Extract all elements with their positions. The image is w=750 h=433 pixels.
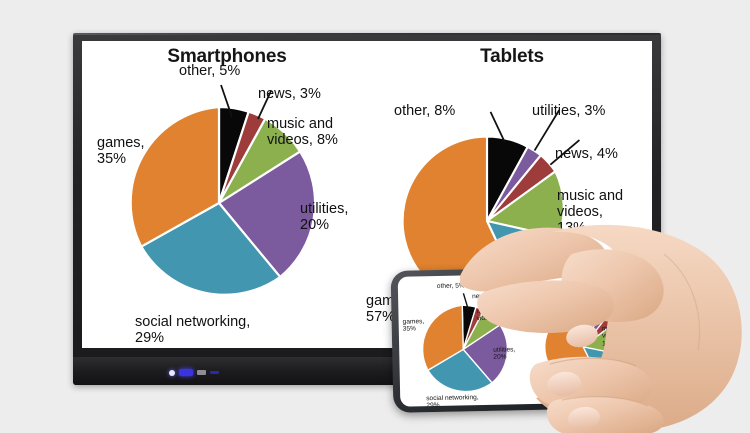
- mini-label-other-tablets: other, 8%: [541, 293, 569, 301]
- indicator-led-group: [169, 369, 219, 376]
- usb-port-icon: [197, 370, 206, 375]
- mini-label-games-smartphones: games, 35%: [403, 318, 425, 333]
- mini-label-social-smartphones: social networking, 29%: [426, 394, 479, 407]
- label-utilities-smartphones: utilities, 20%: [300, 201, 348, 233]
- mini-label-other-smartphones: other, 5%: [437, 282, 465, 290]
- mini-chart-tablets: other, 8% utilities, 3% news, 4% music a…: [528, 271, 665, 404]
- label-music-smartphones: music and videos, 8%: [267, 116, 338, 148]
- mini-chart-smartphones: other, 5% news, 3% music and videos, 8% …: [398, 274, 537, 407]
- label-other-smartphones: other, 5%: [179, 63, 240, 79]
- label-music-tablets: music and videos, 13%: [557, 188, 623, 237]
- mini-label-music-tablets: music and videos, 13%: [602, 325, 633, 347]
- mini-label-social-tablets: social networking, 15%: [592, 368, 626, 390]
- mini-label-utilities-smartphones: utilities, 20%: [493, 346, 515, 361]
- label-social-smartphones: social networking, 29%: [135, 314, 250, 346]
- status-led-icon: [179, 369, 193, 376]
- chart-title-tablets: Tablets: [372, 46, 652, 68]
- mini-label-music-smartphones: music and videos, 8%: [476, 307, 509, 322]
- chart-panel-smartphones: Smartphones: [82, 41, 372, 348]
- aux-port-icon: [210, 371, 219, 374]
- mini-label-utilities-tablets: utilities, 3%: [594, 291, 628, 299]
- mini-label-news-smartphones: news, 3%: [472, 293, 501, 301]
- smartphone-device[interactable]: other, 5% news, 3% music and videos, 8% …: [391, 265, 672, 413]
- label-games-smartphones: games, 35%: [97, 135, 145, 167]
- mini-label-news-tablets: news, 4%: [602, 308, 631, 316]
- label-utilities-tablets: utilities, 3%: [532, 103, 605, 119]
- scene: Smartphones: [0, 0, 750, 433]
- label-news-smartphones: news, 3%: [258, 86, 321, 102]
- label-other-tablets: other, 8%: [394, 103, 455, 119]
- power-led-icon: [169, 370, 175, 376]
- bezel-highlight: [73, 33, 661, 35]
- phone-screen-mirror[interactable]: other, 5% news, 3% music and videos, 8% …: [398, 271, 665, 407]
- mini-label-games-tablets: games, 57%: [531, 368, 553, 383]
- label-news-tablets: news, 4%: [555, 146, 618, 162]
